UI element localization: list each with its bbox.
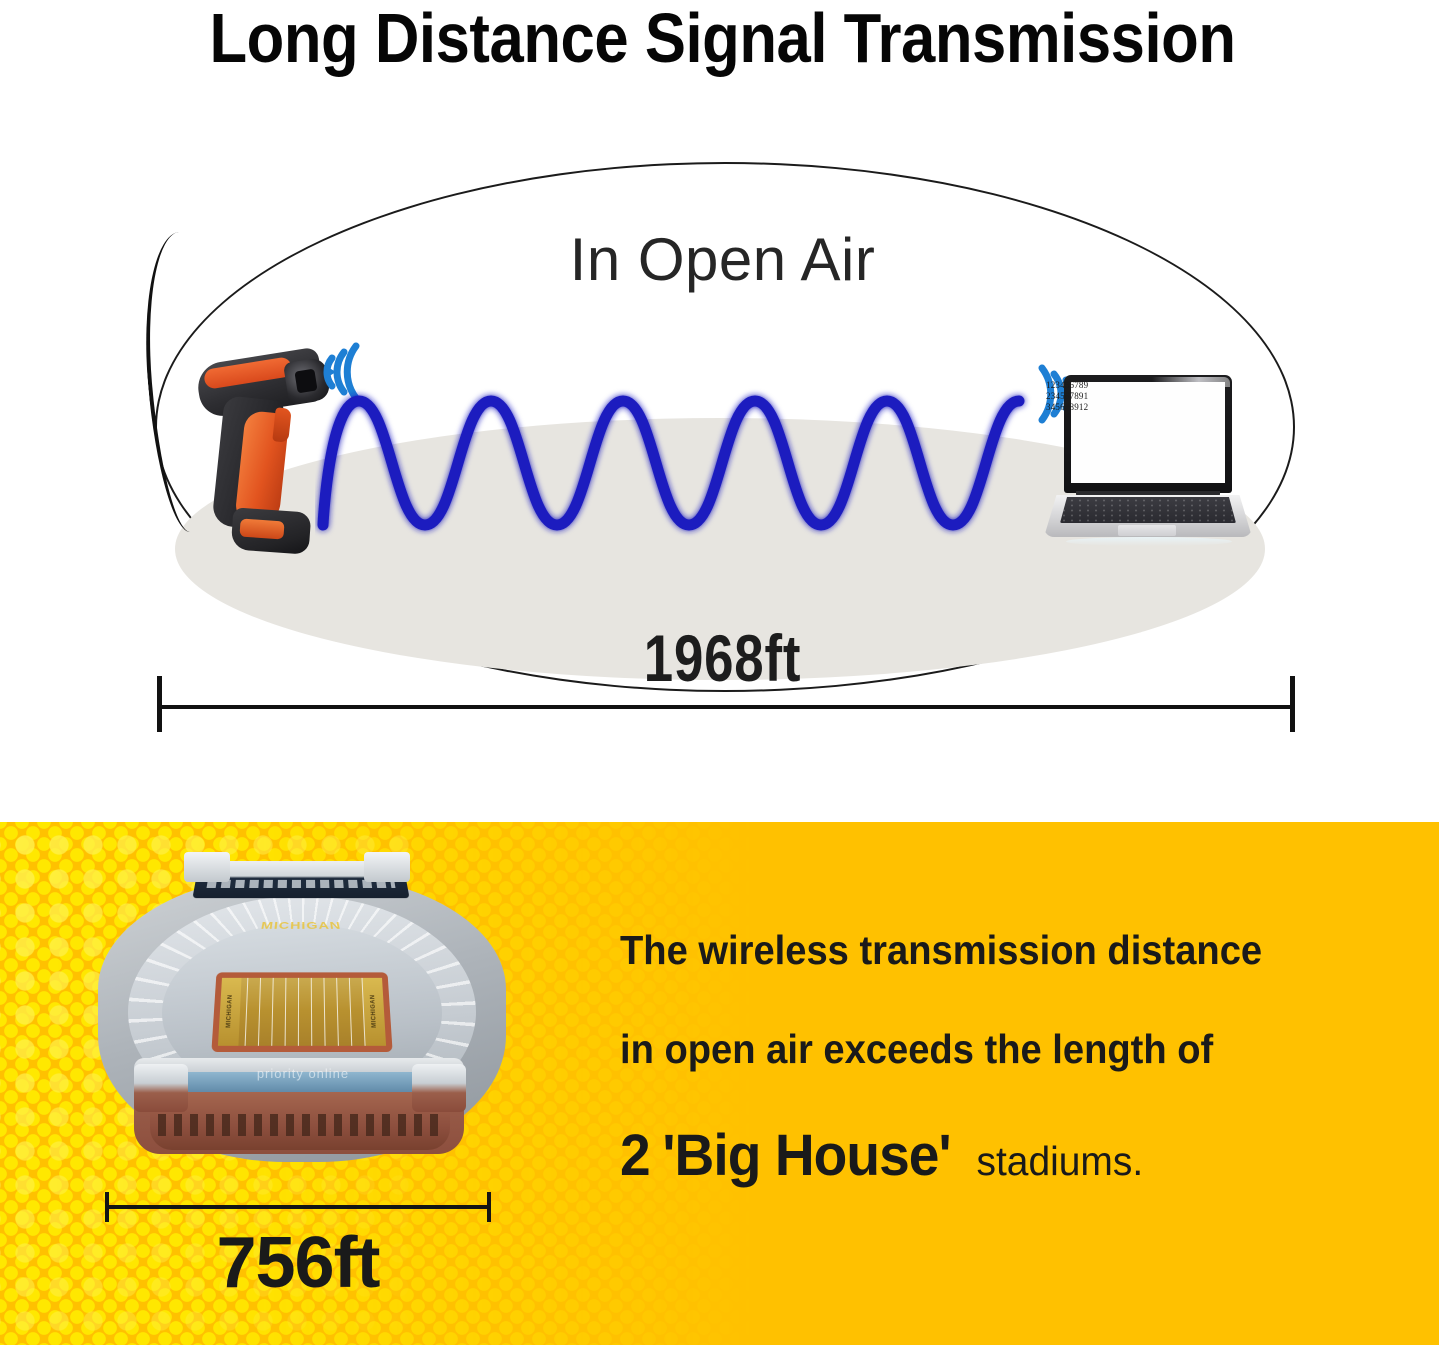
scene-label: In Open Air — [0, 225, 1445, 294]
field-endzone-left: MICHIGAN — [218, 978, 242, 1046]
stadium-arches — [158, 1114, 442, 1136]
laptop-screen-text: 123456789 234567891 345678912 — [1046, 380, 1088, 413]
sine-wave-icon — [315, 355, 1035, 545]
open-air-panel: In Open Air — [0, 100, 1445, 822]
stadium-tower-right — [364, 852, 410, 882]
dimension-cap-right — [487, 1192, 491, 1222]
stadium-distance-label: 756ft — [105, 1222, 491, 1304]
dimension-bar — [105, 1205, 491, 1209]
endzone-label: MICHIGAN — [226, 995, 234, 1028]
screen-line: 123456789 — [1046, 380, 1088, 391]
callout-line-3: 2'Big House'stadiums. — [620, 1122, 1410, 1189]
endzone-label: MICHIGAN — [370, 995, 378, 1028]
panel-right-margin — [1439, 822, 1445, 1345]
page-title: Long Distance Signal Transmission — [87, 2, 1359, 76]
stadium-tower-left — [184, 852, 230, 882]
stadium-dimension-line — [105, 1192, 491, 1222]
field-endzone-right: MICHIGAN — [362, 978, 386, 1046]
open-air-distance-label: 1968ft — [145, 620, 1301, 696]
infographic-page: Long Distance Signal Transmission In Ope… — [0, 0, 1445, 1345]
laptop-screen — [1071, 382, 1225, 483]
stadium-field: MICHIGAN MICHIGAN — [211, 972, 392, 1052]
stadium-corner-left — [134, 1064, 188, 1112]
callout-line-2: in open air exceeds the length of — [620, 1029, 1355, 1070]
laptop-keys — [1060, 498, 1236, 522]
comparison-callout: The wireless transmission distance in op… — [620, 930, 1410, 1189]
callout-line-1: The wireless transmission distance — [620, 930, 1355, 971]
stadium-watermark: priority online — [208, 1066, 398, 1081]
callout-tail: stadiums. — [967, 1138, 1143, 1185]
scanner-trigger — [272, 407, 291, 442]
laptop-icon: 123456789 234567891 345678912 — [1040, 375, 1255, 560]
field-yard-lines — [218, 978, 386, 1046]
callout-count: 2 — [620, 1122, 650, 1189]
screen-line: 345678912 — [1046, 402, 1088, 413]
stadium-icon: MICHIGAN MICHIGAN MICHIGAN priori — [88, 852, 518, 1182]
stadium-endzone-text: MICHIGAN — [252, 921, 349, 954]
scanner-foot-accent — [239, 518, 284, 539]
laptop-base-shadow — [1066, 537, 1232, 546]
dimension-bar — [157, 705, 1295, 709]
stadium-corner-right — [412, 1064, 466, 1112]
callout-emphasis: 'Big House' — [651, 1122, 951, 1189]
screen-line: 234567891 — [1046, 391, 1088, 402]
laptop-trackpad — [1118, 525, 1176, 536]
